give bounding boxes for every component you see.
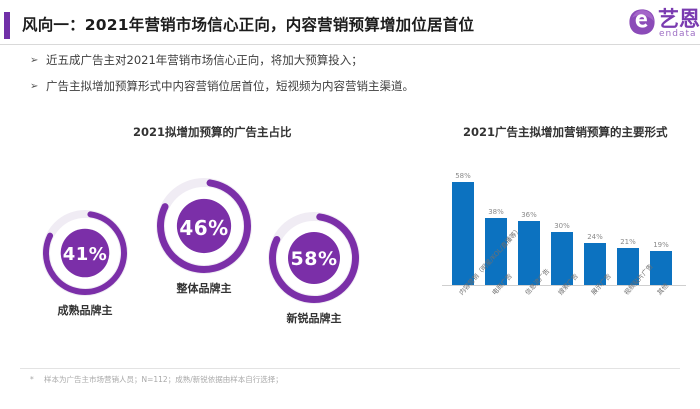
donut-category-label: 成熟品牌主	[42, 302, 128, 318]
bar-chart: 58%38%36%30%24%21%19% 内容营销（明星/KOL/直播等）电商…	[440, 160, 690, 360]
title-accent-bar	[4, 12, 10, 39]
list-item: ➢ 广告主拟增加预算形式中内容营销位居首位，短视频为内容营销主渠道。	[30, 78, 590, 95]
footnote-divider	[20, 368, 680, 369]
bar-chart-title: 2021广告主拟增加营销预算的主要形式	[463, 124, 668, 140]
footnote-marker: *	[30, 375, 44, 384]
donut-category-label: 新锐品牌主	[268, 310, 360, 326]
donut-value-label: 41%	[42, 244, 128, 265]
bar-rect	[452, 182, 474, 285]
donut-chart: 41%成熟品牌主46%整体品牌主58%新锐品牌主	[20, 150, 420, 365]
slide-title-bar: 风向一：2021年营销市场信心正向，内容营销预算增加位居首位	[0, 10, 660, 42]
page-title: 风向一：2021年营销市场信心正向，内容营销预算增加位居首位	[22, 11, 474, 39]
donut-item: 58%新锐品牌主	[268, 212, 360, 326]
footnote: *样本为广告主市场营销人员；N=112；成熟/新锐依据由样本自行选择；	[30, 374, 283, 385]
arrow-bullet-icon: ➢	[30, 78, 46, 95]
bullet-text: 广告主拟增加预算形式中内容营销位居首位，短视频为内容营销主渠道。	[46, 78, 414, 95]
bar-value-label: 30%	[543, 222, 581, 230]
donut-value-label: 46%	[156, 216, 252, 240]
donut-chart-title: 2021拟增加预算的广告主占比	[133, 124, 292, 140]
brand-logo: 艺恩 endata	[628, 6, 700, 44]
list-item: ➢ 近五成广告主对2021年营销市场信心正向，将加大预算投入；	[30, 52, 590, 69]
logo-subtext: endata	[659, 29, 697, 39]
donut-item: 41%成熟品牌主	[42, 210, 128, 318]
bullet-text: 近五成广告主对2021年营销市场信心正向，将加大预算投入；	[46, 52, 363, 69]
donut-category-label: 整体品牌主	[156, 280, 252, 296]
bar-value-label: 36%	[510, 211, 548, 219]
bar-value-label: 58%	[444, 172, 482, 180]
arrow-bullet-icon: ➢	[30, 52, 46, 69]
title-divider	[0, 44, 700, 45]
bar-item: 58%	[452, 182, 474, 285]
slide-root: 风向一：2021年营销市场信心正向，内容营销预算增加位居首位 艺恩 endata…	[0, 0, 700, 409]
bar-value-label: 19%	[642, 241, 680, 249]
donut-item: 46%整体品牌主	[156, 178, 252, 296]
endata-e-icon	[628, 8, 656, 36]
footnote-text: 样本为广告主市场营销人员；N=112；成熟/新锐依据由样本自行选择；	[44, 375, 283, 384]
bullet-list: ➢ 近五成广告主对2021年营销市场信心正向，将加大预算投入； ➢ 广告主拟增加…	[30, 52, 590, 104]
donut-value-label: 58%	[268, 248, 360, 270]
